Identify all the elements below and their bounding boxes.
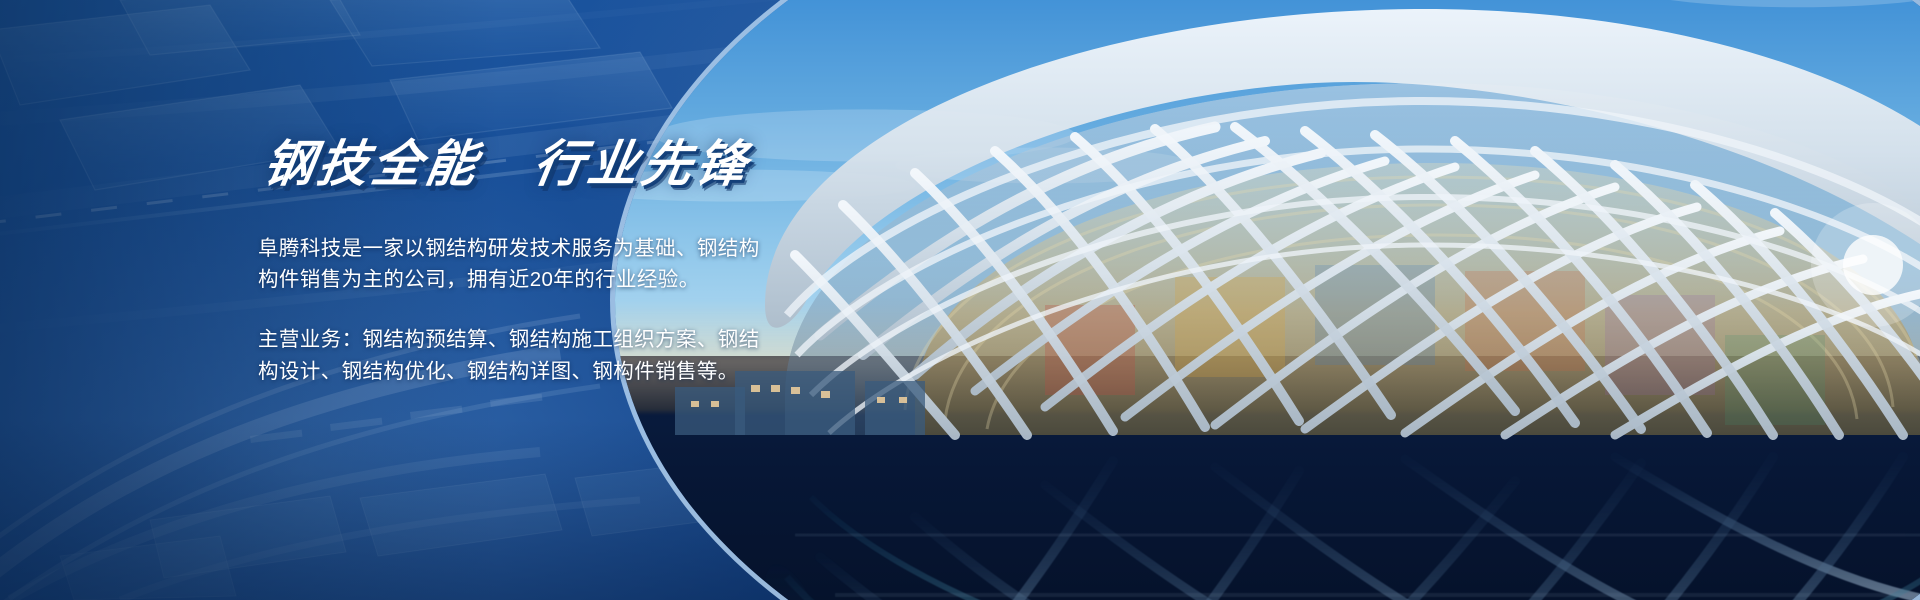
- banner-paragraph-1: 阜腾科技是一家以钢结构研发技术服务为基础、钢结构构件销售为主的公司，拥有近20年…: [258, 233, 778, 297]
- banner-body-copy: 阜腾科技是一家以钢结构研发技术服务为基础、钢结构构件销售为主的公司，拥有近20年…: [258, 233, 778, 388]
- promo-banner: 钢技全能 行业先锋 阜腾科技是一家以钢结构研发技术服务为基础、钢结构构件销售为主…: [0, 0, 1920, 600]
- stadium-water-reflection: [615, 0, 1920, 600]
- banner-headline: 钢技全能 行业先锋: [254, 138, 782, 191]
- banner-text-column: 钢技全能 行业先锋 阜腾科技是一家以钢结构研发技术服务为基础、钢结构构件销售为主…: [258, 138, 778, 388]
- banner-paragraph-2: 主营业务：钢结构预结算、钢结构施工组织方案、钢结构设计、钢结构优化、钢结构详图、…: [258, 324, 778, 388]
- birds-nest-stadium-photo: [615, 0, 1920, 600]
- stadium-photo-circle: [615, 0, 1920, 600]
